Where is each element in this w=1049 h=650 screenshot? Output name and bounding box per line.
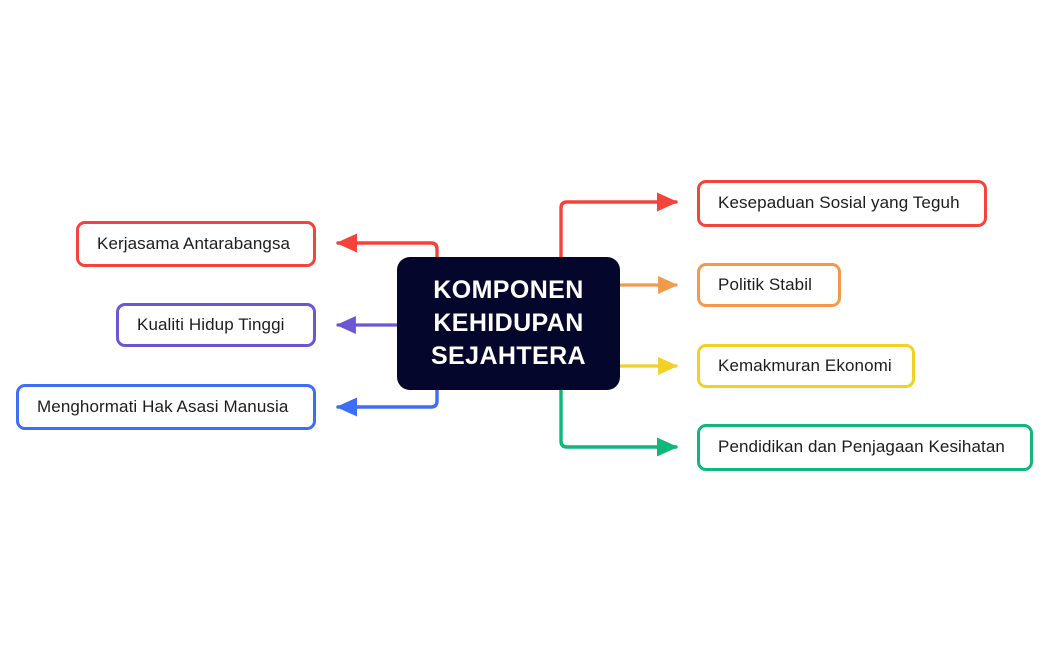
node-label: Kerjasama Antarabangsa (79, 234, 308, 254)
connector-kesepaduan (561, 202, 676, 258)
node-label: Kesepaduan Sosial yang Teguh (700, 193, 978, 213)
node-label: Kemakmuran Ekonomi (700, 356, 910, 376)
connector-menghormati (338, 389, 437, 407)
node-pendidikan-penjagaan-kesihatan[interactable]: Pendidikan dan Penjagaan Kesihatan (697, 424, 1033, 471)
center-node-line-3: SEJAHTERA (431, 340, 586, 373)
node-kemakmuran-ekonomi[interactable]: Kemakmuran Ekonomi (697, 344, 915, 388)
connector-kerjasama (338, 243, 437, 258)
connector-pendidikan (561, 389, 676, 447)
center-node-line-1: KOMPONEN (433, 274, 583, 307)
node-menghormati-hak-asasi-manusia[interactable]: Menghormati Hak Asasi Manusia (16, 384, 316, 430)
mindmap-canvas: KOMPONEN KEHIDUPAN SEJAHTERA Kesepaduan … (0, 0, 1049, 650)
node-politik-stabil[interactable]: Politik Stabil (697, 263, 841, 307)
node-kerjasama-antarabangsa[interactable]: Kerjasama Antarabangsa (76, 221, 316, 267)
node-label: Menghormati Hak Asasi Manusia (19, 397, 306, 417)
node-label: Politik Stabil (700, 275, 830, 295)
node-kualiti-hidup-tinggi[interactable]: Kualiti Hidup Tinggi (116, 303, 316, 347)
node-kesepaduan-sosial[interactable]: Kesepaduan Sosial yang Teguh (697, 180, 987, 227)
node-label: Pendidikan dan Penjagaan Kesihatan (700, 437, 1023, 457)
center-node[interactable]: KOMPONEN KEHIDUPAN SEJAHTERA (397, 257, 620, 390)
center-node-line-2: KEHIDUPAN (433, 307, 583, 340)
node-label: Kualiti Hidup Tinggi (119, 315, 303, 335)
